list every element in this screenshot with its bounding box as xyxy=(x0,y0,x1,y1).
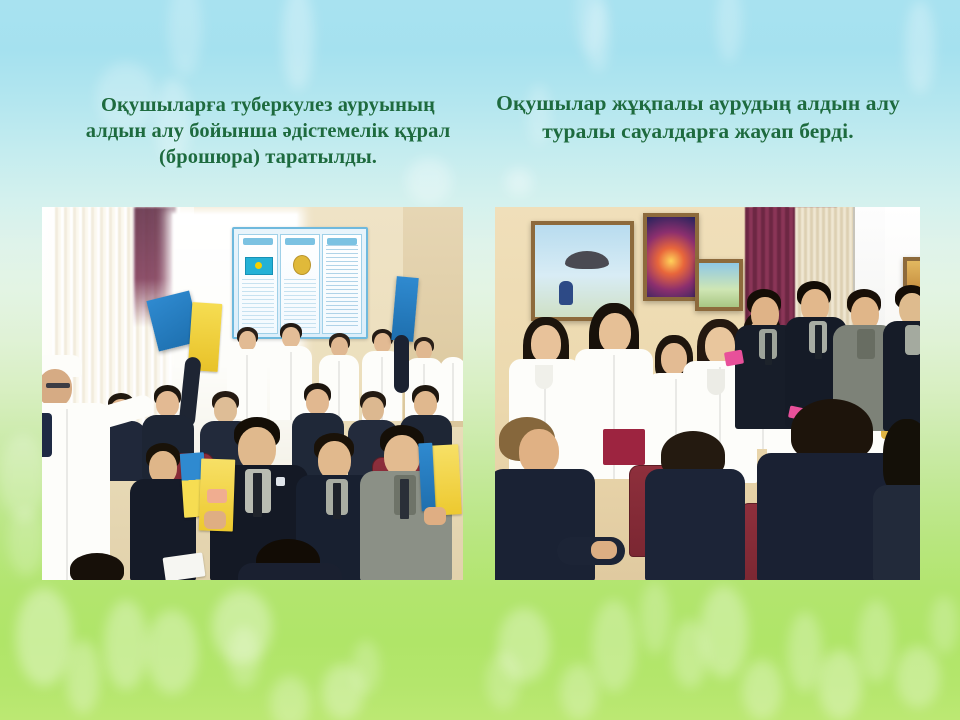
hand-2 xyxy=(424,507,446,525)
hand-3 xyxy=(591,541,617,559)
left-photo-caption: Оқушыларға туберкулез ауруының алдын алу… xyxy=(58,92,478,171)
eagle-shape xyxy=(565,251,609,269)
left-photo xyxy=(42,207,463,580)
right-photo-caption: Оқушылар жұқпалы аурудың алдын алу турал… xyxy=(478,90,918,145)
handout-paper xyxy=(163,552,206,580)
raised-arm-2 xyxy=(394,335,409,393)
right-photo-scene xyxy=(495,207,920,580)
poster-panel-flag xyxy=(238,234,278,334)
red-skirt xyxy=(603,429,645,465)
kazakhstan-emblem-icon xyxy=(293,255,311,275)
kazakhstan-flag-icon xyxy=(245,257,273,275)
landscape-painting xyxy=(695,259,743,311)
rider-shape xyxy=(559,281,573,305)
state-symbols-poster xyxy=(232,227,368,339)
hand xyxy=(204,511,226,529)
poster-panel-emblem xyxy=(280,234,320,334)
poster-panel-anthem xyxy=(322,234,362,334)
lapel-badge xyxy=(276,477,285,486)
sunset-painting xyxy=(643,213,699,301)
left-photo-scene xyxy=(42,207,463,580)
right-photo xyxy=(495,207,920,580)
presentation-slide: Оқушыларға туберкулез ауруының алдын алу… xyxy=(0,0,960,720)
